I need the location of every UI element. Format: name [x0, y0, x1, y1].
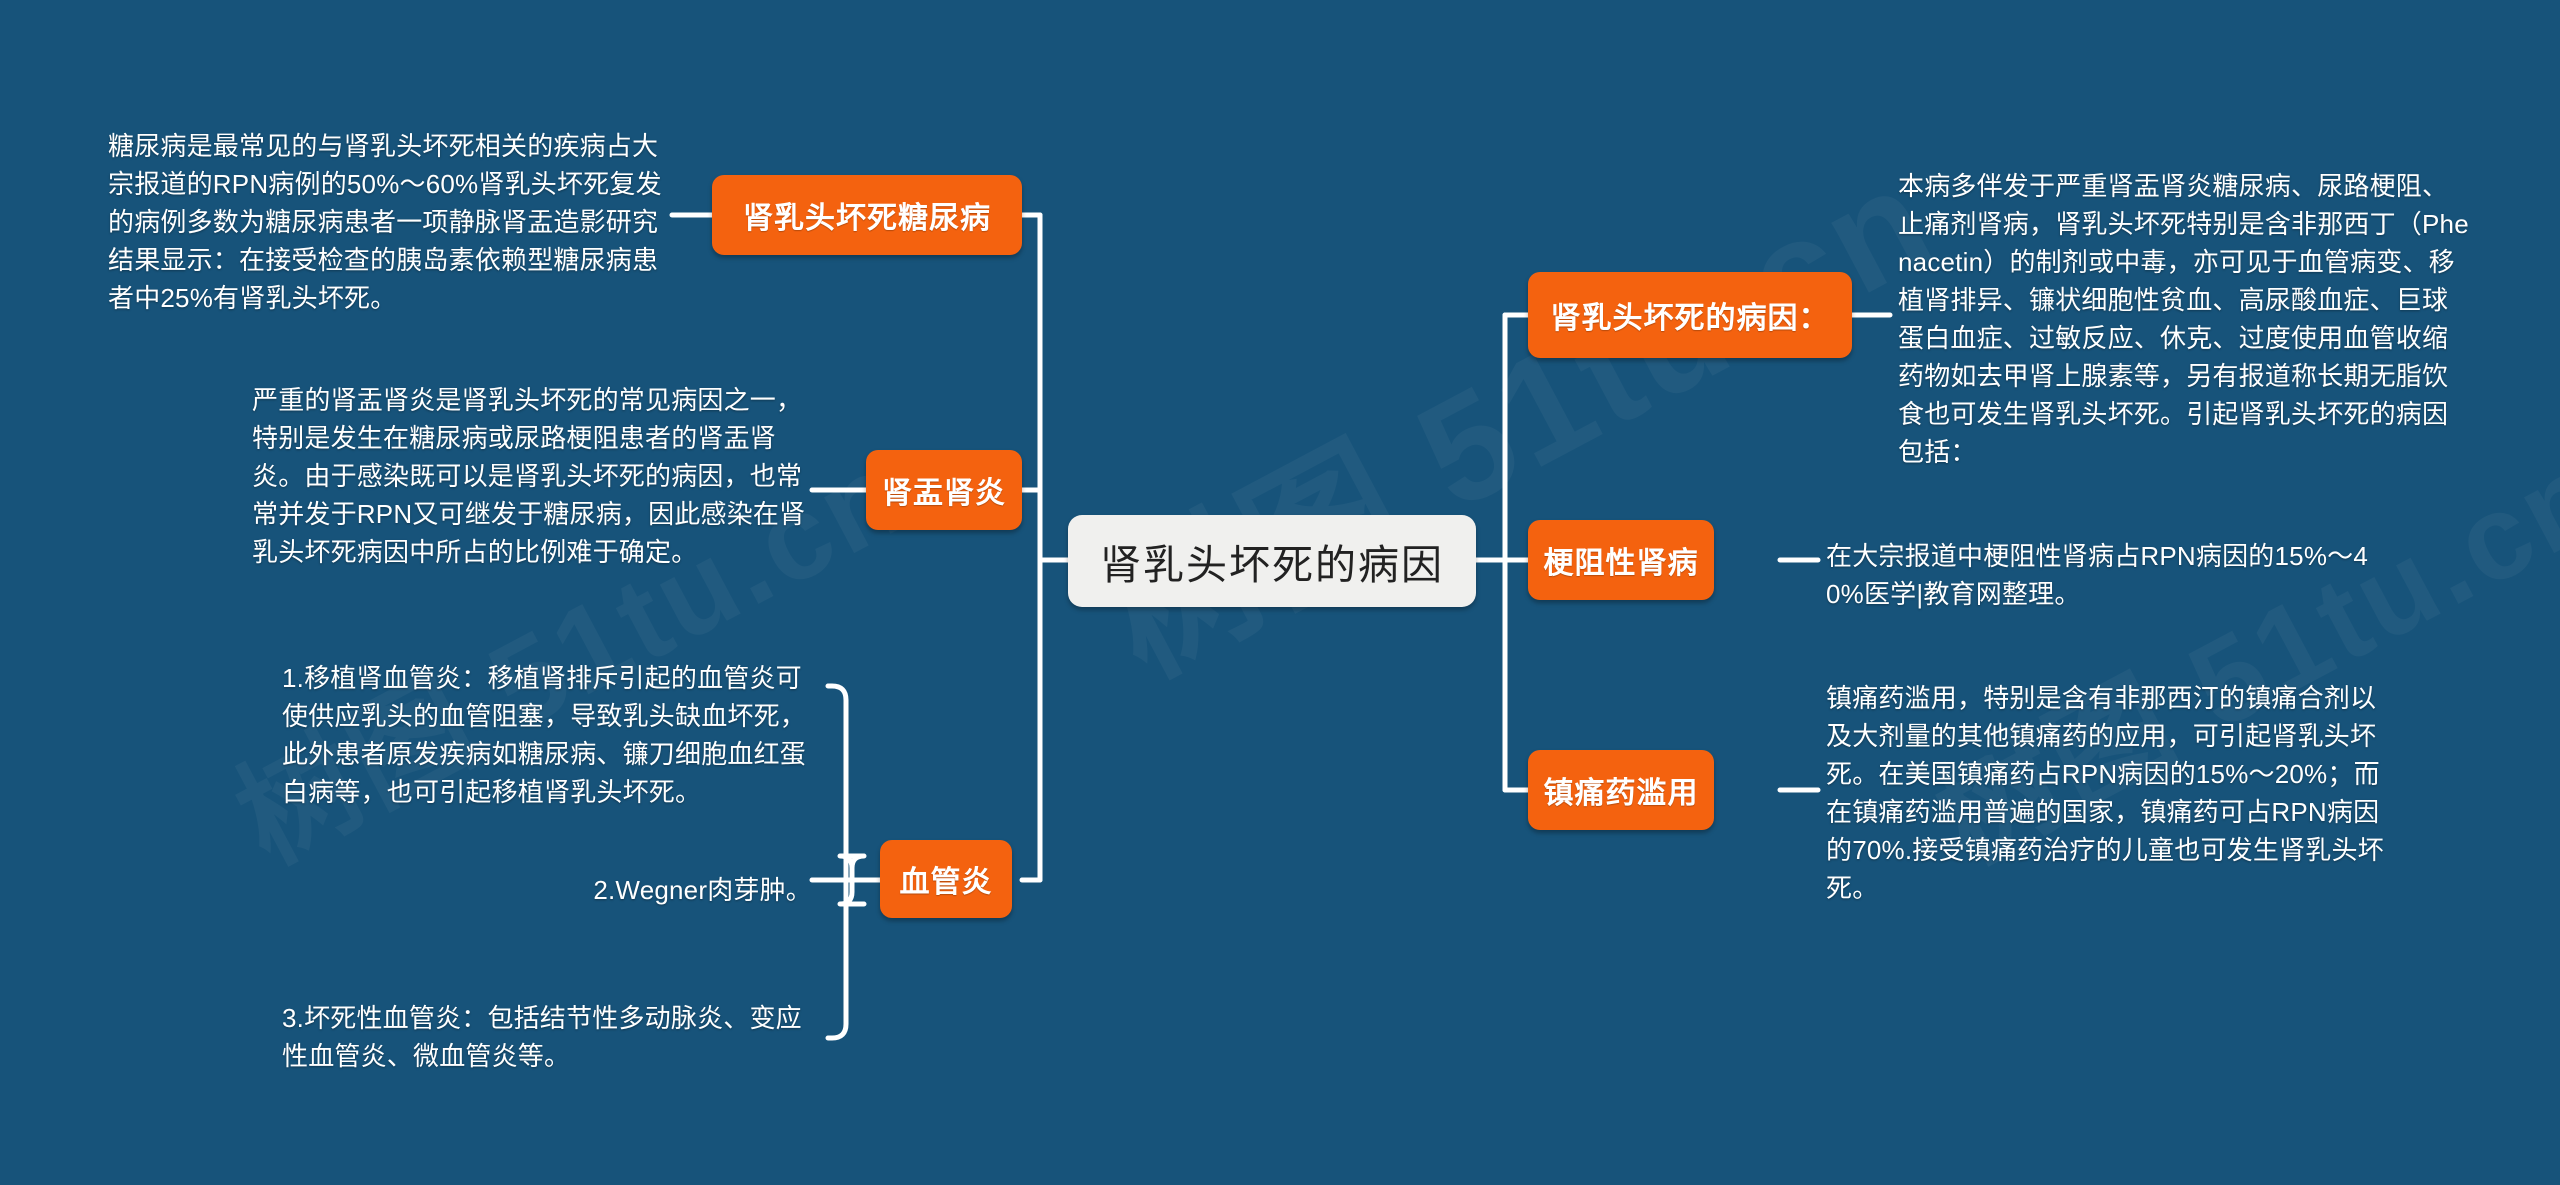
leaf-note-vasculitis-2: 2.Wegner肉芽肿。 — [428, 872, 812, 910]
leaf-note-obstructive: 在大宗报道中梗阻性肾病占RPN病因的15%～40%医学|教育网整理。 — [1826, 538, 2398, 614]
leaf-note-vasculitis-3: 3.坏死性血管炎：包括结节性多动脉炎、变应性血管炎、微血管炎等。 — [282, 1000, 828, 1076]
leaf-note-vasculitis-1: 1.移植肾血管炎：移植肾排斥引起的血管炎可使供应乳头的血管阻塞，导致乳头缺血坏死… — [282, 660, 828, 812]
branch-node-analgesic-label: 镇痛药滥用 — [1544, 768, 1699, 812]
connector-vasculitis-bracket — [828, 686, 852, 1038]
watermark-center: 树图 51tu.cn — [1062, 100, 1965, 717]
root-node-label: 肾乳头坏死的病因 — [1100, 531, 1444, 591]
branch-node-diabetes-label: 肾乳头坏死糖尿病 — [743, 193, 991, 237]
connector-vasculitis-rail — [840, 856, 864, 904]
leaf-note-etiology: 本病多伴发于严重肾盂肾炎糖尿病、尿路梗阻、止痛剂肾病，肾乳头坏死特别是含非那西丁… — [1898, 168, 2470, 472]
branch-node-obstructive-label: 梗阻性肾病 — [1544, 538, 1699, 582]
branch-node-vasculitis-label: 血管炎 — [900, 857, 993, 901]
leaf-note-diabetes: 糖尿病是最常见的与肾乳头坏死相关的疾病占大宗报道的RPN病例的50%～60%肾乳… — [108, 128, 668, 318]
branch-node-etiology[interactable]: 肾乳头坏死的病因： — [1528, 272, 1852, 358]
branch-node-diabetes[interactable]: 肾乳头坏死糖尿病 — [712, 175, 1022, 255]
branch-node-analgesic[interactable]: 镇痛药滥用 — [1528, 750, 1714, 830]
branch-node-pyelonephritis-label: 肾盂肾炎 — [882, 468, 1006, 512]
leaf-note-pyelonephritis: 严重的肾盂肾炎是肾乳头坏死的常见病因之一，特别是发生在糖尿病或尿路梗阻患者的肾盂… — [252, 382, 812, 572]
branch-node-vasculitis[interactable]: 血管炎 — [880, 840, 1012, 918]
leaf-note-analgesic: 镇痛药滥用，特别是含有非那西汀的镇痛合剂以及大剂量的其他镇痛药的应用，可引起肾乳… — [1826, 680, 2398, 908]
branch-node-obstructive[interactable]: 梗阻性肾病 — [1528, 520, 1714, 600]
branch-node-etiology-label: 肾乳头坏死的病因： — [1551, 293, 1830, 337]
branch-node-pyelonephritis[interactable]: 肾盂肾炎 — [866, 450, 1022, 530]
root-node[interactable]: 肾乳头坏死的病因 — [1068, 515, 1476, 607]
mindmap-canvas: 树图 51tu.cn 树图 51tu.cn 树图 51tu.cn — [0, 0, 2560, 1185]
